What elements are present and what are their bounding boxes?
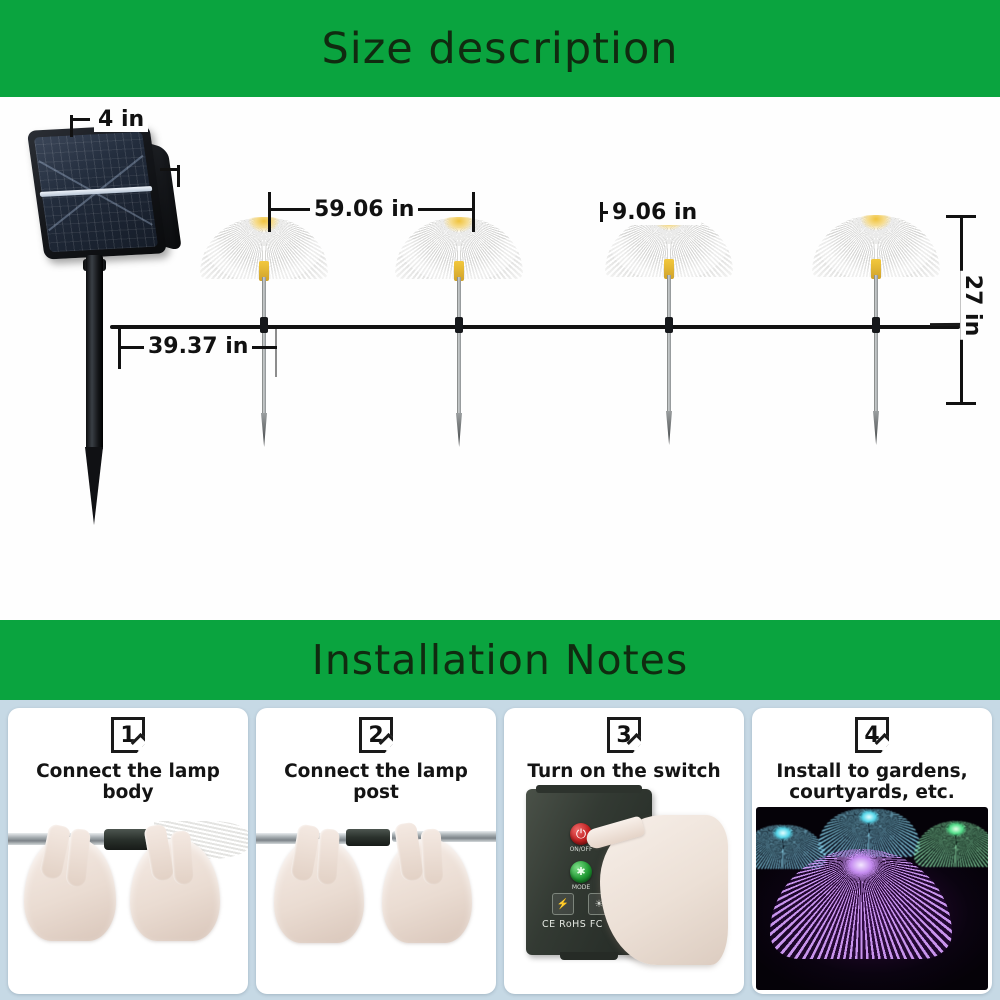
installation-steps: 1 Connect the lamp body 2 Connect the la… xyxy=(0,700,1000,1000)
step-figure-hands-lamp-body xyxy=(8,807,248,994)
dimension-first-spacing: 59.06 in xyxy=(268,192,478,232)
step-number-badge: 1 xyxy=(111,717,145,753)
dimension-panel-width: 4 in xyxy=(70,115,190,155)
right-middle-finger xyxy=(421,829,444,886)
step-figure-hands-lamp-post xyxy=(256,807,496,994)
step-number-badge: 2 xyxy=(359,717,393,753)
dimension-lead-wire: 39.37 in xyxy=(118,329,288,369)
installation-step-3[interactable]: 3 Turn on the switch ⏻ ON/OFF ✱ MODE ⚡ ☀… xyxy=(504,708,744,994)
lamp-stem xyxy=(457,277,461,422)
right-middle-finger xyxy=(170,831,194,886)
lamp-stake-tip xyxy=(666,411,672,445)
step-caption-line-1: Install to gardens, xyxy=(756,762,988,783)
size-description-banner: Size description xyxy=(0,0,1000,97)
solar-panel-pole xyxy=(86,255,103,451)
dimension-lamp-diameter: 9.06 in xyxy=(600,202,690,224)
page-title: Size description xyxy=(321,24,678,74)
lamp-stake-tip xyxy=(261,413,267,447)
installation-step-4[interactable]: 4 Install to gardens, courtyards, etc. xyxy=(752,708,992,994)
lamp-wire-joint xyxy=(872,317,880,333)
step-caption: Turn on the switch xyxy=(504,757,744,783)
left-middle-finger xyxy=(316,829,340,886)
step-caption: Install to gardens, courtyards, etc. xyxy=(752,757,992,803)
certification-marks: CE RoHS FC xyxy=(542,919,603,930)
dimension-label: 27 in xyxy=(960,271,985,340)
step-caption: Connect the lamp post xyxy=(256,757,496,803)
background-jellyfish-light-3 xyxy=(914,821,988,867)
dimension-label: 9.06 in xyxy=(608,200,701,225)
installation-step-1[interactable]: 1 Connect the lamp body xyxy=(8,708,248,994)
post-connector xyxy=(346,829,390,846)
step-number-badge: 3 xyxy=(607,717,641,753)
lamp-wire-joint xyxy=(665,317,673,333)
dimension-tick-right xyxy=(275,329,277,377)
dimension-bar-left xyxy=(70,118,90,121)
step-number-badge: 4 xyxy=(855,717,889,753)
step-header: 4 xyxy=(752,708,992,757)
dimension-label: 59.06 in xyxy=(310,197,418,222)
controller-bottom-foot xyxy=(560,952,618,960)
lamp-wire-joint xyxy=(455,317,463,333)
step-figure-controller: ⏻ ON/OFF ✱ MODE ⚡ ☀ CE RoHS FC xyxy=(504,787,744,994)
garden-night-photo xyxy=(756,807,988,990)
dimension-tick-left xyxy=(118,329,121,369)
step-header: 2 xyxy=(256,708,496,757)
step-header: 1 xyxy=(8,708,248,757)
waterproof-icon: ⚡ xyxy=(552,893,574,915)
dimension-label: 4 in xyxy=(94,107,148,132)
lamp-stem xyxy=(874,275,878,420)
lamp-stake-tip xyxy=(456,413,462,447)
dimension-tick-right xyxy=(472,192,475,232)
lamp-stem xyxy=(667,275,671,420)
step-caption-line-2: courtyards, etc. xyxy=(756,783,988,804)
installation-step-2[interactable]: 2 Connect the lamp post xyxy=(256,708,496,994)
solar-panel-ground-spike xyxy=(85,447,103,525)
step-caption: Connect the lamp body xyxy=(8,757,248,803)
mode-button-label: MODE xyxy=(556,884,606,891)
dimension-label: 39.37 in xyxy=(144,334,252,359)
lamp-stake-tip xyxy=(873,411,879,445)
step-header: 3 xyxy=(504,708,744,757)
dimension-tick-top xyxy=(946,215,976,218)
section-title: Installation Notes xyxy=(312,636,689,684)
installation-notes-banner: Installation Notes xyxy=(0,620,1000,700)
controller-top-lip xyxy=(536,785,642,793)
solar-panel-assembly xyxy=(28,117,228,517)
dimension-lamp-height: 27 in xyxy=(928,215,978,405)
dimension-bar-right xyxy=(160,168,180,171)
mode-button[interactable]: ✱ xyxy=(570,861,592,883)
size-diagram: 4 in 59.06 in 9.06 in 39.37 in 27 in 4.5… xyxy=(0,97,1000,620)
step-figure-night-photo xyxy=(752,807,992,994)
dimension-tick-left xyxy=(268,192,271,232)
dimension-tick-bottom xyxy=(946,402,976,405)
